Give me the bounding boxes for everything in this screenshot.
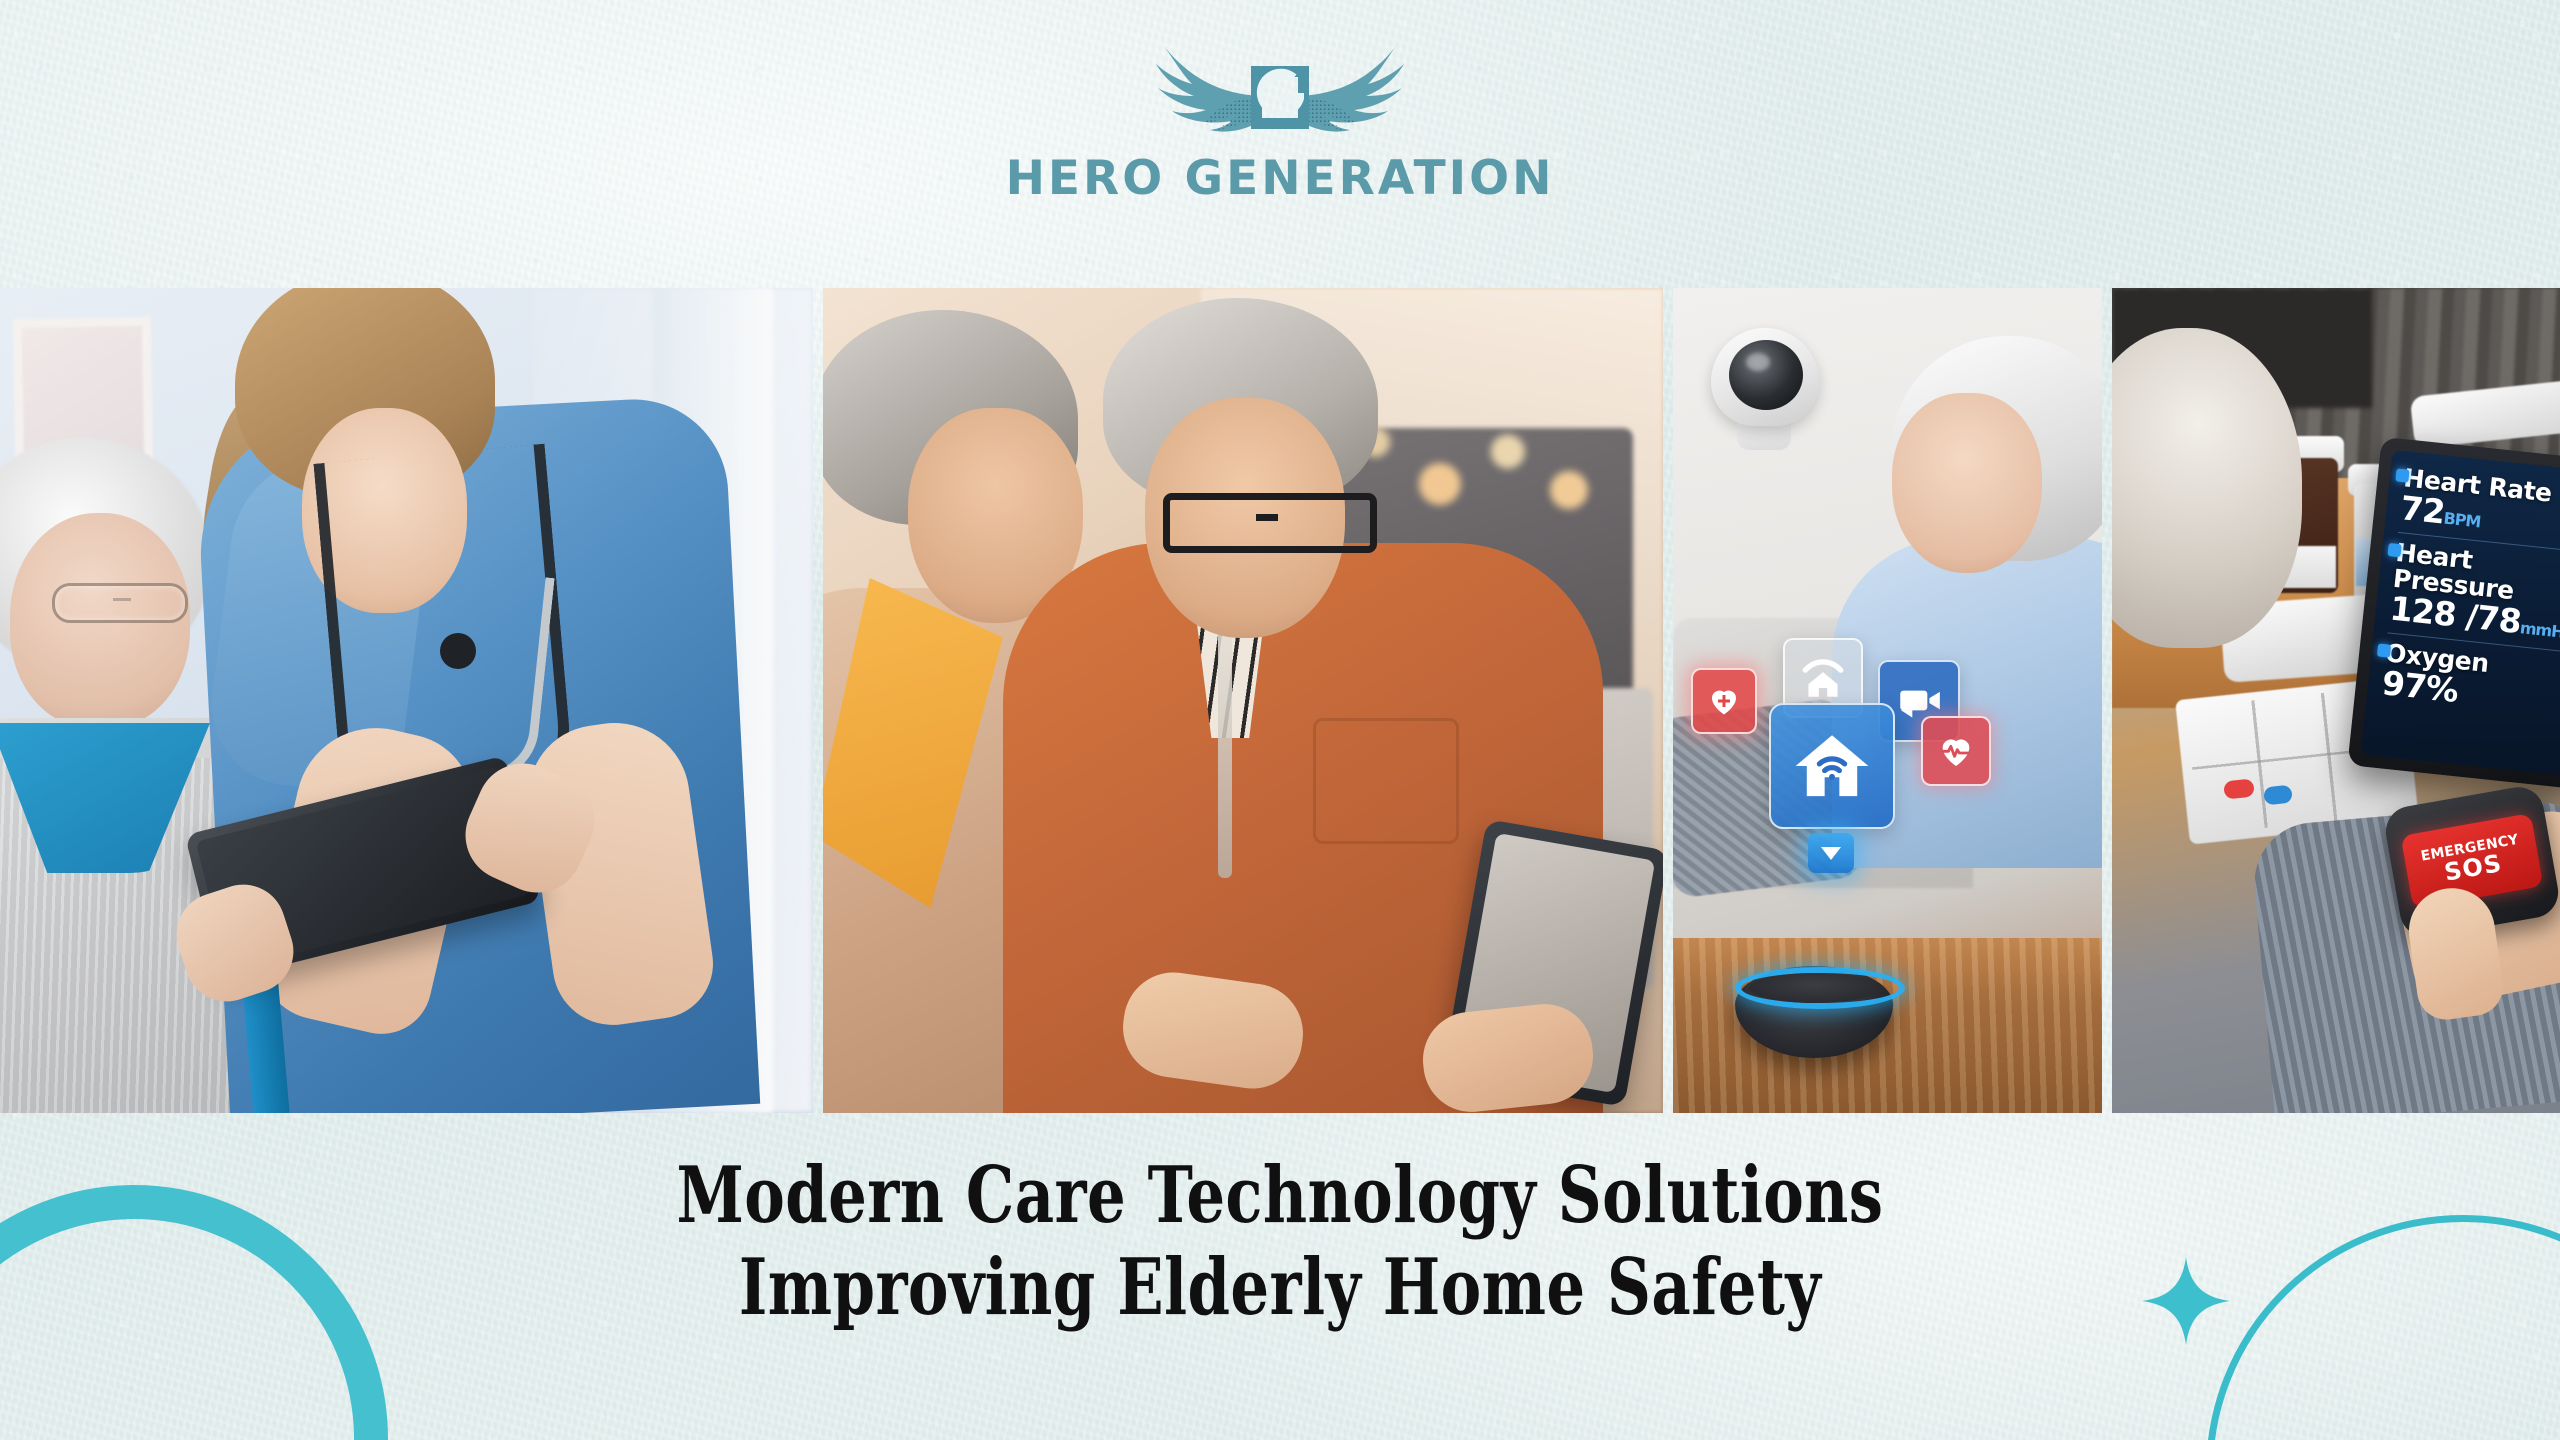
vital-heart-pressure: Heart Pressure 128 /78mmHg (2387, 540, 2560, 653)
health-monitor-screen: Heart Rate 72BPM Heart Pressure 128 /78m… (2360, 450, 2560, 776)
heartbeat-icon[interactable] (1921, 716, 1991, 786)
smart-home-icon[interactable] (1769, 703, 1895, 829)
dropdown-caret-icon[interactable] (1808, 833, 1854, 873)
panel-smart-home (1673, 288, 2101, 1113)
vital-indicator-icon (2387, 543, 2401, 557)
medical-cross-heart-icon[interactable] (1691, 668, 1757, 734)
panel-senior-couple-tablet (823, 288, 1664, 1113)
title-line-2: Improving Elderly Home Safety (282, 1242, 2279, 1334)
title-line-1: Modern Care Technology Solutions (282, 1150, 2279, 1242)
page-title: Modern Care Technology Solutions Improvi… (0, 1150, 2560, 1334)
vital-indicator-icon (2377, 643, 2391, 657)
panel-health-monitor: Heart Rate 72BPM Heart Pressure 128 /78m… (2112, 288, 2560, 1113)
vital-indicator-icon (2395, 468, 2409, 482)
brand-name: HERO GENERATION (1006, 155, 1555, 202)
vital-heart-rate: Heart Rate 72BPM (2398, 465, 2560, 552)
brand-logo[interactable]: HERO GENERATION (0, 36, 2560, 256)
photo-strip: Heart Rate 72BPM Heart Pressure 128 /78m… (0, 288, 2560, 1113)
winged-g-emblem-icon (1130, 36, 1430, 161)
poster-canvas: HERO GENERATION (0, 0, 2560, 1440)
security-camera-icon (1711, 328, 1819, 448)
vital-oxygen: Oxygen 97% (2379, 640, 2560, 726)
panel-caregiver-tablet (0, 288, 813, 1113)
